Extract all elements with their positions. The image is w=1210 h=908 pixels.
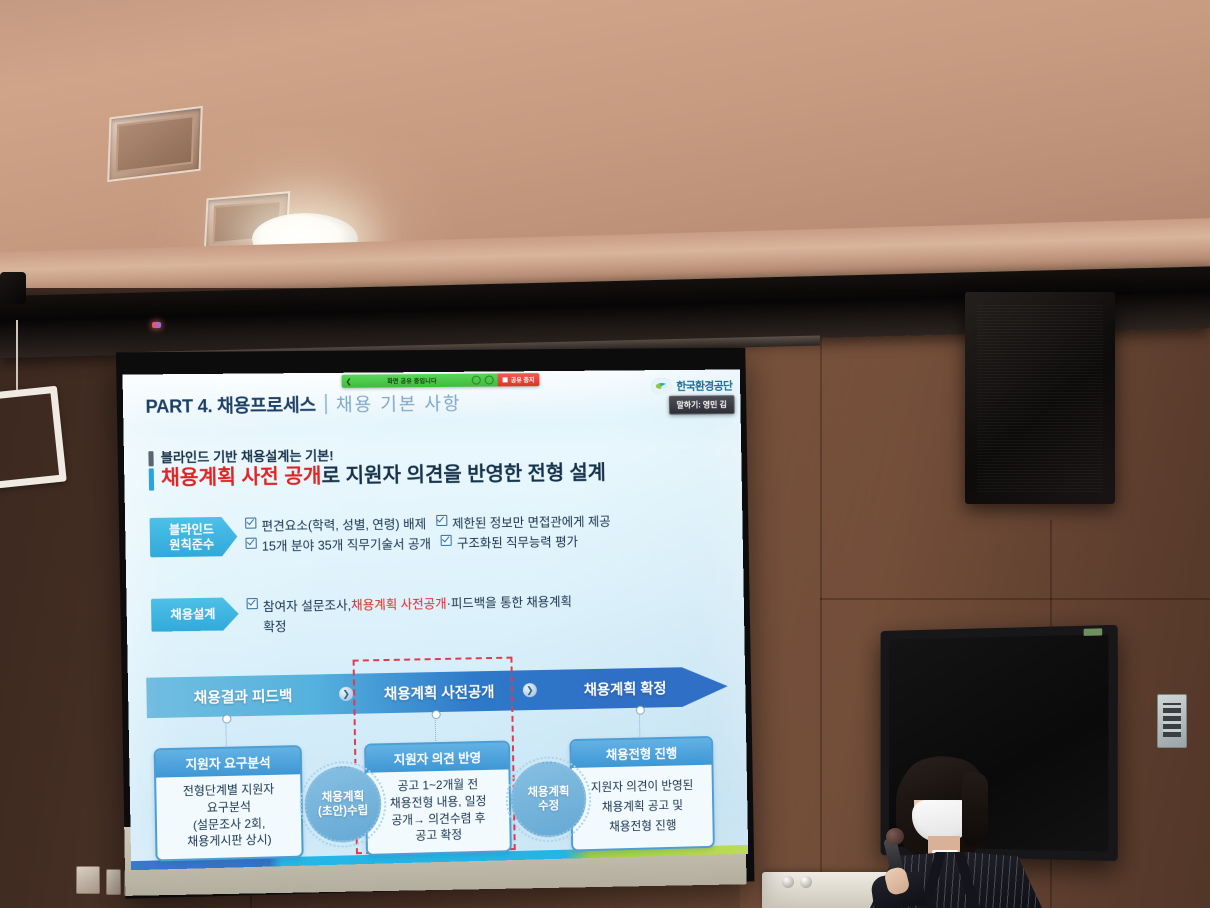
active-speaker-badge: 말하기: 영민 김 — [669, 395, 735, 414]
tag-line-1: 블라인드 — [159, 522, 224, 538]
circle-line-1: 채용계획 — [321, 789, 364, 804]
headline-accent-bar — [149, 468, 154, 490]
hanging-bracket — [0, 386, 67, 491]
detail-box-header: 지원자 요구분석 — [156, 747, 301, 777]
stop-square-icon — [503, 377, 508, 382]
bullet-item: 편견요소(학력, 성별, 연령) 배제 — [245, 514, 426, 537]
detail-box-2: 지원자 의견 반영 공고 1~2개월 전 채용전형 내용, 일정 공개→ 의견수… — [364, 740, 512, 856]
hair-side — [962, 772, 988, 846]
stop-share-button[interactable]: 공유 중지 — [498, 373, 540, 386]
presentation-slide: ❮ 화면 공유 중입니다 공유 중지 PART 4. 채용프로세스 채용 기본 … — [122, 369, 748, 870]
process-stage-3: 채용계획 확정 — [538, 667, 711, 710]
node-connector — [639, 713, 640, 739]
circle-line-2: (초안)수립 — [318, 804, 369, 820]
bullet-text: 구조화된 직무능력 평가 — [457, 532, 578, 554]
organization-logo: 한국환경공단 — [651, 377, 733, 394]
photo-scene: ❮ 화면 공유 중입니다 공유 중지 PART 4. 채용프로세스 채용 기본 … — [0, 0, 1210, 908]
wall-outlet — [106, 869, 121, 895]
section-tag-design: 채용설계 — [151, 597, 239, 631]
detail-line: 지원자 의견이 반영된 — [576, 775, 708, 798]
headline-line-2-rest: 로 지원자 의견을 반영한 전형 설계 — [321, 462, 606, 487]
speaker-icon — [0, 272, 26, 304]
wall-outlet — [76, 866, 100, 894]
bullet-item: 15개 분야 35개 직무기술서 공개 — [245, 534, 431, 557]
process-node-dot — [636, 706, 645, 715]
section-design-bullets: 참여자 설문조사, 채용계획 사전공개·피드백을 통한 채용계획 확정 — [247, 592, 573, 638]
headline-line-1: 블라인드 기반 채용설계는 기본! — [161, 449, 334, 465]
circle-line-2: 수정 — [538, 799, 559, 814]
podium-knob — [800, 876, 812, 888]
detail-box-body: 전형단계별 지원자 요구분석 (설문조사 2회, 채용게시판 상시) — [156, 774, 301, 859]
presenter — [862, 756, 1052, 908]
checkbox-icon — [247, 598, 258, 609]
process-stage-1: 채용결과 피드백 — [146, 674, 339, 718]
section-blind: 블라인드 원칙준수 편견요소(학력, 성별, 연령) 배제 제한된 정보만 면접… — [150, 512, 612, 559]
slide-title-subtitle: 채용 기본 사항 — [336, 390, 462, 417]
bullet-text: 편견요소(학력, 성별, 연령) 배제 — [261, 514, 426, 537]
checkbox-icon — [245, 517, 256, 528]
slide-title-part: PART 4. 채용프로세스 — [145, 391, 316, 419]
tag-line-2: 원칙준수 — [159, 537, 224, 553]
process-node-dot — [222, 714, 231, 723]
slide-title: PART 4. 채용프로세스 채용 기본 사항 — [145, 390, 461, 419]
section-design: 채용설계 참여자 설문조사, 채용계획 사전공개·피드백을 통한 채용계획 확정 — [151, 592, 573, 640]
hanger-wire — [16, 320, 18, 392]
podium-knob — [782, 876, 794, 888]
status-led-icon — [152, 322, 161, 328]
detail-box-1: 지원자 요구분석 전형단계별 지원자 요구분석 (설문조사 2회, 채용게시판 … — [154, 745, 304, 861]
bullet-text-post: ·피드백을 통한 채용계획 — [447, 592, 573, 614]
title-divider — [325, 394, 327, 414]
section-tag-blind: 블라인드 원칙준수 — [150, 517, 238, 558]
detail-box-header: 지원자 의견 반영 — [366, 742, 508, 772]
slide-headline: 블라인드 기반 채용설계는 기본! 채용계획 사전 공개로 지원자 의견을 반영… — [148, 446, 606, 491]
detail-box-3: 채용전형 진행 지원자 의견이 반영된 채용계획 공고 및 채용전형 진행 — [569, 736, 715, 852]
detail-box-body: 지원자 의견이 반영된 채용계획 공고 및 채용전형 진행 — [572, 765, 713, 850]
node-connector — [225, 722, 226, 748]
share-status-label: 화면 공유 중입니다 — [356, 376, 469, 386]
headline-accent-bar — [148, 451, 153, 466]
checkbox-icon — [441, 535, 452, 546]
checkbox-icon — [436, 515, 447, 526]
mic-toggle-icon[interactable] — [472, 376, 481, 385]
detail-line: 채용전형 진행 — [577, 814, 709, 837]
bullet-text: 15개 분야 35개 직무기술서 공개 — [262, 534, 431, 557]
bullet-item: 제한된 정보만 면접관에게 제공 — [436, 512, 611, 535]
logo-text: 한국환경공단 — [676, 377, 732, 393]
detail-box-body: 공고 1~2개월 전 채용전형 내용, 일정 공개→ 의견수렴 후 공고 확정 — [367, 769, 510, 853]
section-blind-bullets: 편견요소(학력, 성별, 연령) 배제 제한된 정보만 면접관에게 제공 15개… — [245, 512, 611, 558]
detail-line: 공고 확정 — [372, 826, 506, 846]
stop-share-label: 공유 중지 — [511, 375, 535, 384]
headline-row-2: 채용계획 사전 공개로 지원자 의견을 반영한 전형 설계 — [149, 463, 606, 491]
screen-share-toolbar[interactable]: ❮ 화면 공유 중입니다 공유 중지 — [342, 373, 540, 388]
ceiling-vent-icon — [107, 106, 203, 182]
checkbox-icon — [245, 538, 256, 549]
bullet-text-pre: 참여자 설문조사, — [263, 595, 352, 617]
bullet-line: 15개 분야 35개 직무기술서 공개 구조화된 직무능력 평가 — [245, 532, 611, 558]
share-status-region: ❮ 화면 공유 중입니다 — [342, 373, 498, 387]
tag-line-1: 채용설계 — [160, 607, 225, 623]
wall-panel-seam — [820, 300, 822, 908]
logo-mark-icon — [651, 378, 673, 394]
camera-toggle-icon[interactable] — [485, 375, 494, 384]
wall-speaker — [965, 292, 1115, 504]
wall-control-plate[interactable] — [1157, 694, 1187, 748]
circle-line-1: 채용계획 — [527, 785, 569, 800]
headline-highlight: 채용계획 사전 공개 — [161, 465, 322, 489]
bullet-text-highlight: 채용계획 사전공개 — [351, 594, 447, 616]
headline-line-2: 채용계획 사전 공개로 지원자 의견을 반영한 전형 설계 — [161, 463, 606, 489]
monitor-brand-badge — [1084, 628, 1103, 636]
detail-line: 채용게시판 상시) — [161, 831, 297, 851]
bullet-text: 제한된 정보만 면접관에게 제공 — [452, 512, 611, 534]
bullet-item: 구조화된 직무능력 평가 — [441, 532, 578, 554]
chevron-left-icon[interactable]: ❮ — [346, 377, 352, 385]
detail-box-header: 채용전형 진행 — [571, 738, 711, 768]
wall-panel-seam — [820, 598, 1210, 600]
